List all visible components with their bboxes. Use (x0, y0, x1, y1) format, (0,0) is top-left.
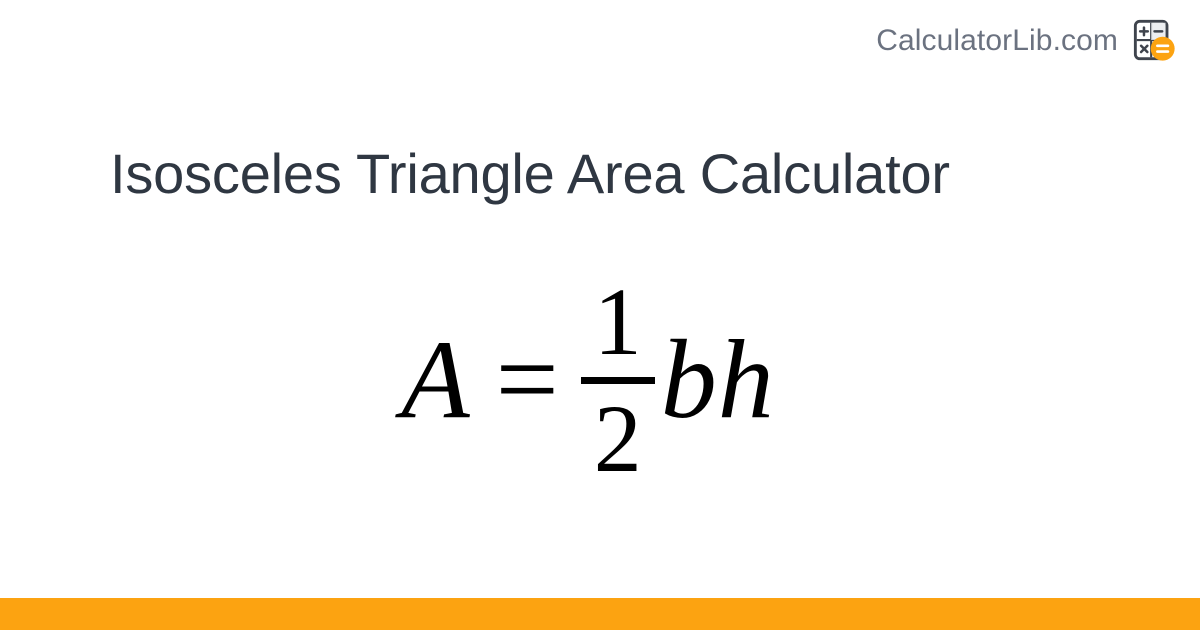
page-title: Isosceles Triangle Area Calculator (110, 142, 950, 206)
calculator-icon-svg (1132, 18, 1178, 64)
formula-container: A = 1 2 bh (0, 210, 1200, 550)
og-image-card: CalculatorLib.com (0, 0, 1200, 630)
calculator-icon (1132, 18, 1178, 64)
area-formula: A = 1 2 bh (401, 273, 775, 488)
fraction-numerator: 1 (588, 273, 648, 371)
fraction-denominator: 2 (588, 390, 648, 488)
formula-equals-sign: = (496, 324, 559, 436)
fraction-bar (581, 377, 655, 384)
formula-variable-area: A (401, 324, 469, 436)
equals-badge (1151, 37, 1175, 61)
formula-variables-base-height: bh (661, 324, 775, 436)
formula-fraction-one-half: 1 2 (581, 273, 655, 488)
footer-accent-bar (0, 598, 1200, 630)
brand-header[interactable]: CalculatorLib.com (876, 18, 1178, 64)
brand-name: CalculatorLib.com (876, 26, 1118, 56)
